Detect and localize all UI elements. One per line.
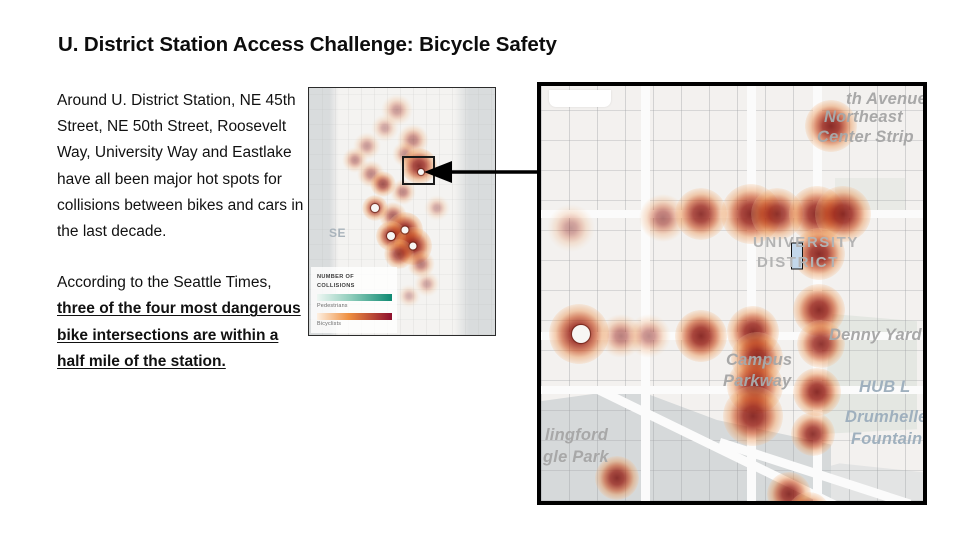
page-title: U. District Station Access Challenge: Bi…: [58, 33, 557, 57]
heat-blob: [793, 368, 841, 416]
top-intersection-marker[interactable]: [387, 232, 395, 240]
paragraph-two-emphasis: three of the four most dangerous bike in…: [57, 300, 301, 369]
map-legend: NUMBER OF COLLISIONS Pedestrians Bicycli…: [311, 267, 397, 333]
legend-gradient-bicyclists: [317, 313, 392, 320]
body-text-column: Around U. District Station, NE 45th Stre…: [57, 88, 305, 375]
heat-blob: [595, 456, 639, 500]
detail-map[interactable]: th AvenueNortheastCenter StripUNIVERSITY…: [537, 82, 927, 505]
top-intersection-marker[interactable]: [371, 204, 379, 212]
paragraph-one: Around U. District Station, NE 45th Stre…: [57, 88, 305, 245]
heat-blob: [397, 284, 421, 308]
heat-blob: [675, 188, 727, 240]
detail-heatmap-layer: [541, 86, 923, 501]
station-marker[interactable]: [791, 243, 803, 270]
heat-blob: [805, 100, 857, 152]
legend-label-bicyclists: Bicyclists: [317, 321, 392, 327]
heat-blob: [675, 310, 727, 362]
legend-title-line1: NUMBER OF: [317, 273, 392, 281]
heat-blob: [791, 412, 835, 456]
top-intersection-marker[interactable]: [402, 227, 409, 234]
heat-blob: [723, 386, 783, 446]
legend-label-pedestrians: Pedestrians: [317, 303, 392, 309]
paragraph-two: According to the Seattle Times, three of…: [57, 270, 305, 375]
top-intersection-marker[interactable]: [572, 325, 590, 343]
callout-arrow: [418, 160, 538, 184]
top-intersection-marker[interactable]: [410, 243, 417, 250]
legend-gradient-pedestrians: [317, 294, 392, 301]
heat-blob: [547, 204, 595, 252]
arrow-icon: [418, 160, 538, 184]
overview-map[interactable]: SE NUMBER OF COLLISIONS Pedestrians Bicy…: [308, 87, 496, 336]
heat-blob: [424, 195, 450, 221]
paragraph-two-lead: According to the Seattle Times,: [57, 274, 272, 291]
heat-blob: [627, 314, 671, 358]
heat-blob: [797, 320, 845, 368]
legend-title-line2: COLLISIONS: [317, 282, 392, 290]
